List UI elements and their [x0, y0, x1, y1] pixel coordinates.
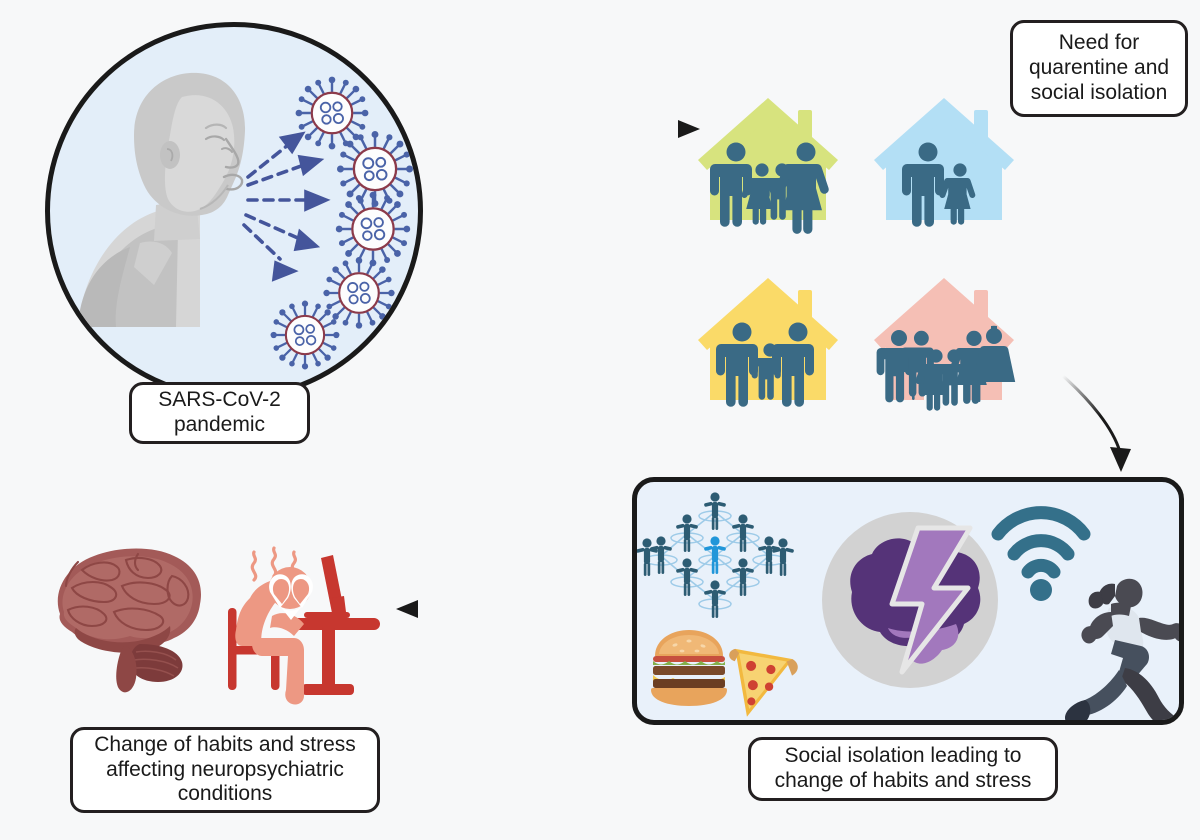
house-yellow: [698, 278, 838, 407]
pizza-slice-icon: [714, 642, 800, 725]
sars-cov-2-pandemic-illustration: [45, 22, 423, 400]
diagram-canvas: SARS-CoV-2 pandemic Need for quarentine …: [0, 0, 1200, 840]
houses-group: [690, 88, 1020, 418]
social-network-icon: [636, 492, 794, 618]
wifi-icon: [998, 513, 1084, 601]
social-isolation-panel: [632, 477, 1184, 725]
burger-icon: [651, 630, 727, 706]
person-exhaling-icon: [78, 73, 245, 327]
house-green: [698, 98, 838, 234]
arrow-houses-to-panel: [1063, 376, 1131, 472]
dashed-arrow-5: [244, 225, 294, 279]
stressed-person-at-desk-icon: [228, 548, 380, 705]
label-sars-cov-2-pandemic: SARS-CoV-2 pandemic: [129, 382, 310, 444]
dashed-arrows: [244, 134, 326, 279]
dashed-arrow-3: [248, 192, 326, 209]
label-social-isolation: Social isolation leading to change of ha…: [748, 737, 1058, 801]
anatomical-brain-icon: [58, 549, 201, 693]
arrow-panel-to-outcome: [396, 600, 602, 618]
isolation-scene-svg: [637, 482, 1179, 720]
dashed-arrow-2: [248, 157, 320, 185]
running-woman-icon: [1065, 579, 1184, 725]
label-change-of-habits: Change of habits and stress affecting ne…: [70, 727, 380, 813]
arrow-pandemic-to-houses: [424, 120, 700, 138]
virus-particle: [323, 257, 394, 328]
virus-particle: [336, 192, 410, 266]
dashed-arrow-4: [246, 215, 316, 249]
virus-particle: [296, 77, 369, 150]
virus-particle: [271, 301, 340, 370]
house-blue: [874, 98, 1014, 227]
dashed-arrow-1: [248, 134, 302, 177]
house-pink: [874, 278, 1015, 411]
stressed-brain-icon: [822, 512, 998, 688]
pandemic-scene-svg: [50, 27, 418, 395]
neuropsychiatric-outcome-illustration: [42, 540, 392, 720]
label-need-for-quarantine: Need for quarentine and social isolation: [1010, 20, 1188, 117]
